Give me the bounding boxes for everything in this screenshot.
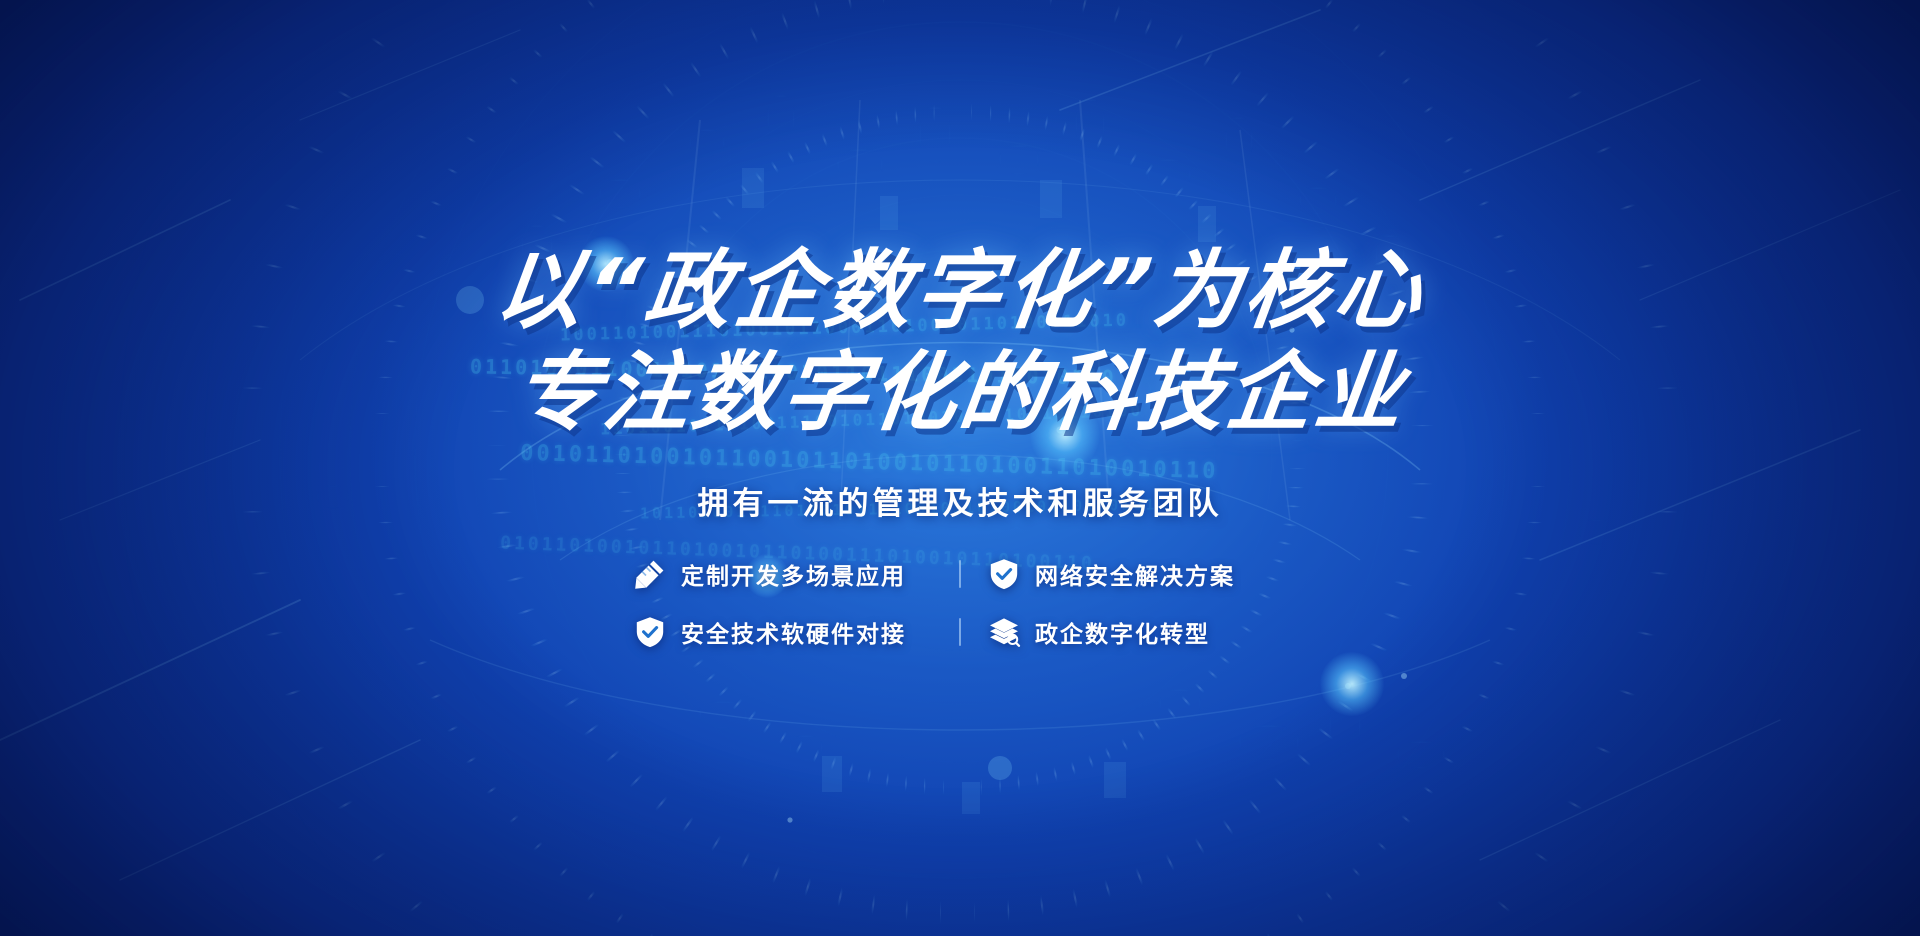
feature-row: 定制开发多场景应用 网络安全解决方案	[633, 557, 1287, 591]
shield-check-icon	[987, 557, 1021, 591]
feature-item-digital-transformation[interactable]: 政企数字化转型	[987, 615, 1287, 649]
feature-label: 网络安全解决方案	[1035, 557, 1235, 591]
feature-label: 定制开发多场景应用	[681, 557, 906, 591]
feature-item-security-integration[interactable]: 安全技术软硬件对接	[633, 615, 933, 649]
banner-subtitle: 拥有一流的管理及技术和服务团队	[698, 478, 1223, 523]
feature-item-custom-development[interactable]: 定制开发多场景应用	[633, 557, 933, 591]
feature-item-network-security[interactable]: 网络安全解决方案	[987, 557, 1287, 591]
feature-divider	[959, 560, 961, 588]
layers-search-icon	[987, 615, 1021, 649]
hero-banner: 1001101001110100101100011010010110100111…	[0, 0, 1920, 936]
feature-label: 安全技术软硬件对接	[681, 615, 906, 649]
feature-label: 政企数字化转型	[1035, 615, 1210, 649]
feature-list: 定制开发多场景应用 网络安全解决方案	[633, 557, 1287, 649]
headline-line-2: 专注数字化的科技企业	[510, 350, 1411, 436]
feature-divider	[959, 618, 961, 646]
headline-line-1: 以“政企数字化”为核心	[490, 248, 1429, 334]
pen-ruler-icon	[633, 557, 667, 591]
feature-row: 安全技术软硬件对接	[633, 615, 1287, 649]
banner-content: 以“政企数字化”为核心 专注数字化的科技企业 拥有一流的管理及技术和服务团队	[0, 0, 1920, 936]
shield-check-icon	[633, 615, 667, 649]
